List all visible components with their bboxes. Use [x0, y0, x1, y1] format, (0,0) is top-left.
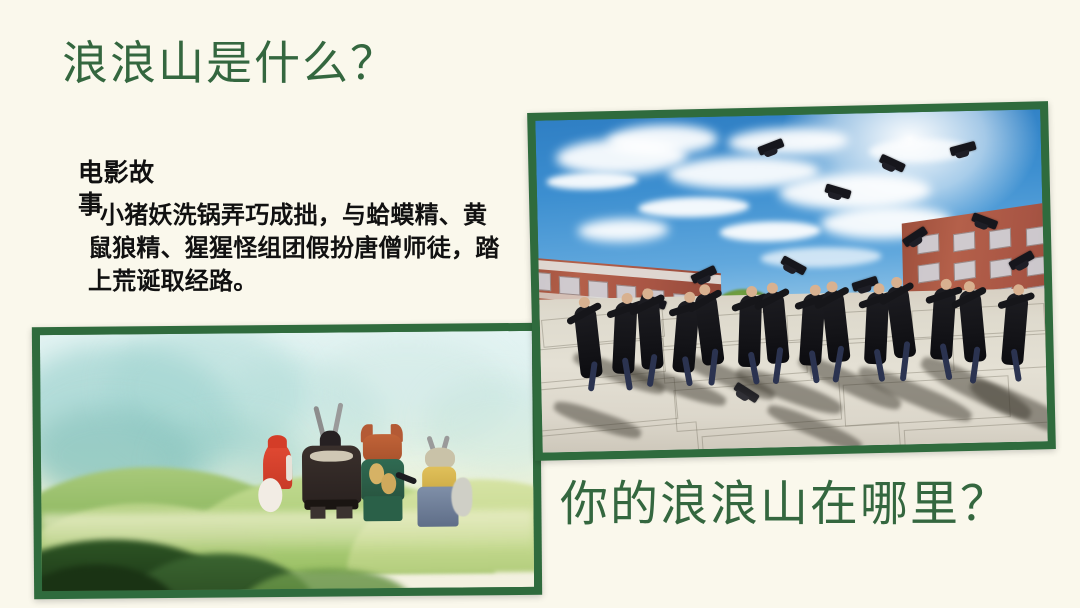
character-red [260, 435, 300, 512]
graduation-scene [535, 109, 1047, 452]
graduation-photo [535, 109, 1047, 452]
slide-canvas: 浪浪山是什么？ 电影故事 小猪妖洗锅弄巧成拙，与蛤蟆精、黄鼠狼精、猩猩怪组团假扮… [0, 0, 1080, 608]
character-cat [358, 424, 408, 522]
character-horned [299, 409, 364, 517]
cartoon-photo-frame[interactable] [32, 323, 542, 599]
page-title: 浪浪山是什么？ [62, 36, 398, 91]
story-label: 电影故事 [78, 157, 174, 221]
bottom-headline: 你的浪浪山在哪里？ [560, 476, 1010, 534]
cartoon-scene [40, 331, 534, 591]
graduation-photo-frame[interactable] [527, 101, 1056, 461]
cartoon-photo [40, 331, 534, 591]
character-yellow [415, 444, 470, 529]
